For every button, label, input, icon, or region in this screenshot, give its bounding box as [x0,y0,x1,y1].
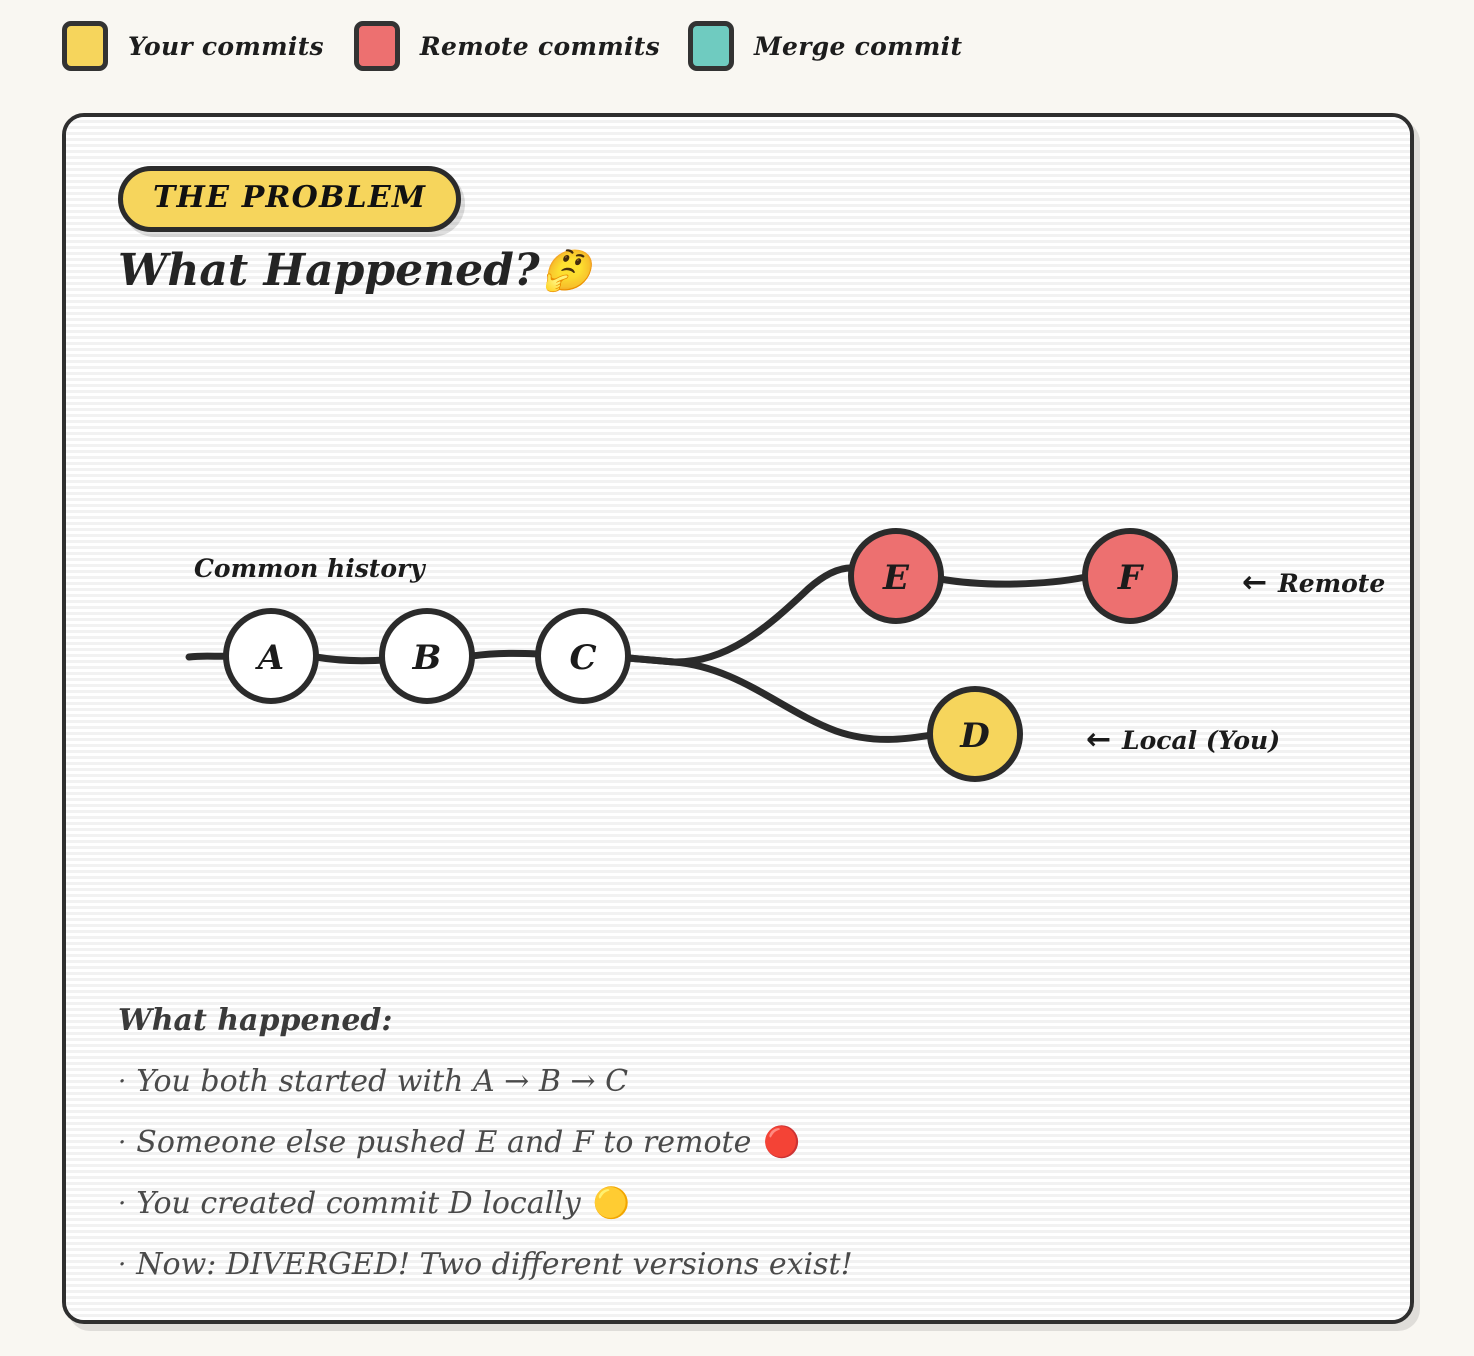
commit-node-b-label: B [412,638,442,678]
note-item: · Someone else pushed E and F to remote … [118,1125,1318,1160]
legend-item-remote-commits: Remote commits [354,21,660,71]
commit-node-c[interactable]: C [538,611,628,701]
legend-item-your-commits: Your commits [62,21,324,71]
yellow-square-swatch [62,21,108,71]
yellow-circle-icon: 🟡 [593,1186,630,1221]
remote-branch-label: Remote [1277,569,1385,598]
note-item: · Now: DIVERGED! Two different versions … [118,1247,1318,1282]
legend: Your commits Remote commits Merge commit [0,0,1474,92]
red-square-swatch [354,21,400,71]
commit-node-a-label: A [255,638,284,678]
edge-e-f [940,577,1086,584]
legend-item-merge-commit: Merge commit [688,21,962,71]
bullet-icon: · [118,1250,126,1280]
edge-fork-lower [628,658,932,739]
note-text: Now: DIVERGED! Two different versions ex… [136,1247,852,1282]
edge-tail [189,656,228,657]
local-arrow-icon: ← [1086,722,1111,757]
red-circle-icon: 🔴 [763,1125,800,1160]
bullet-icon: · [118,1128,126,1158]
problem-card: THE PROBLEM What Happened? 🤔 A B C [62,113,1414,1324]
note-item: · You created commit D locally 🟡 [118,1186,1318,1221]
commit-node-c-label: C [569,638,596,678]
legend-label-your-commits: Your commits [128,32,324,61]
commit-node-d-label: D [959,716,990,756]
note-item: · You both started with A → B → C [118,1064,1318,1099]
bullet-icon: · [118,1067,126,1097]
common-history-label: Common history [194,554,426,583]
teal-square-swatch [688,21,734,71]
local-branch-label: Local (You) [1121,726,1280,755]
note-text: You created commit D locally [136,1186,580,1221]
notes-section: What happened: · You both started with A… [118,1003,1318,1308]
commit-node-e-label: E [882,558,910,598]
remote-arrow-icon: ← [1242,565,1267,600]
commit-node-f[interactable]: F [1085,531,1175,621]
edge-fork-upper [628,568,854,662]
note-text: You both started with A → B → C [136,1064,628,1099]
legend-label-remote-commits: Remote commits [420,32,660,61]
notes-title: What happened: [118,1003,1318,1038]
note-text: Someone else pushed E and F to remote [136,1125,751,1160]
commit-node-f-label: F [1117,558,1145,598]
commit-node-e[interactable]: E [851,531,941,621]
commit-node-a[interactable]: A [226,611,316,701]
bullet-icon: · [118,1189,126,1219]
legend-label-merge-commit: Merge commit [754,32,962,61]
commit-node-d[interactable]: D [930,689,1020,779]
commit-node-b[interactable]: B [382,611,472,701]
